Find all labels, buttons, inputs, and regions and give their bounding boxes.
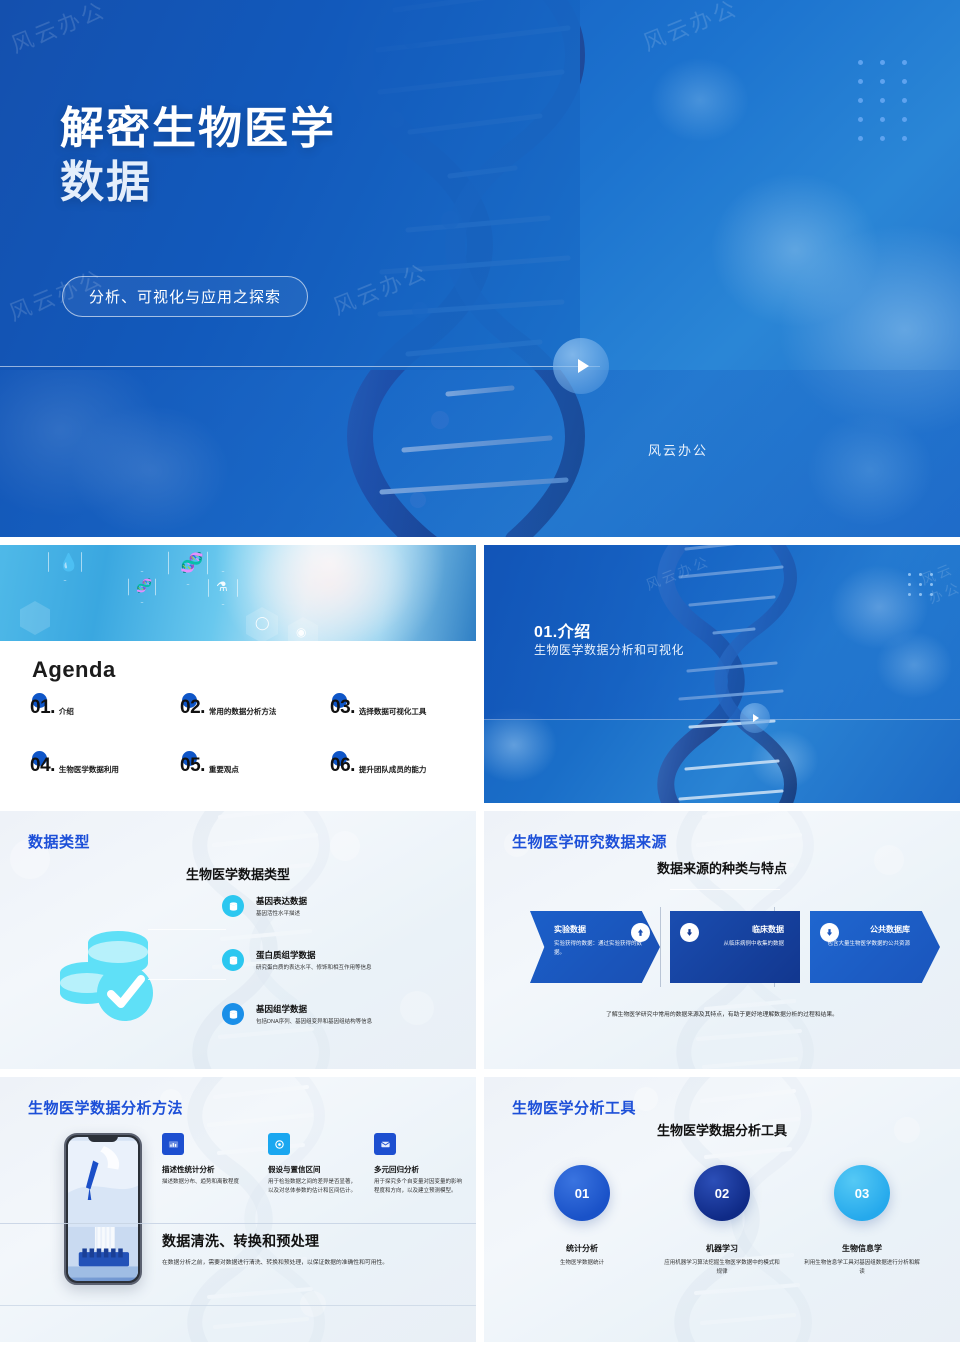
agenda-item-01[interactable]: 01. 介绍 <box>30 697 180 719</box>
data-source-card-public[interactable]: 公共数据库 包含大量生物医学数据的公共资源 <box>810 911 940 983</box>
mail-icon <box>374 1133 396 1155</box>
dot-grid-decoration <box>908 573 941 603</box>
agenda-item-05[interactable]: 05. 重要观点 <box>180 755 330 777</box>
tool-card-bioinformatics[interactable]: 03 生物信息学 利用生物信息学工具对基因组数据进行分析和解读 <box>792 1165 932 1277</box>
tool-desc: 生物医学数据统计 <box>512 1259 652 1268</box>
method-card-regression[interactable]: 多元回归分析 用于探究多个自变量对因变量的影响程度和方向，以及建立预测模型。 <box>374 1133 462 1196</box>
card-desc: 包含大量生物医学数据的公共资源 <box>824 940 910 949</box>
agenda-label: 重要观点 <box>209 764 239 777</box>
play-button[interactable] <box>740 703 770 733</box>
method-desc: 描述数据分布、趋势和离散程度 <box>162 1178 250 1187</box>
title-line-2: 数据 <box>60 156 490 210</box>
method-title: 多元回归分析 <box>374 1164 462 1175</box>
slide-footnote: 了解生物医学研究中常用的数据来源及其特点，有助于更好地理解数据分析的过程和结果。 <box>484 1009 960 1018</box>
agenda-item-04[interactable]: 04. 生物医学数据利用 <box>30 755 180 777</box>
chart-icon <box>162 1133 184 1155</box>
agenda-item-06[interactable]: 06. 提升团队成员的能力 <box>330 755 476 777</box>
agenda-item-03[interactable]: 03. 选择数据可视化工具 <box>330 697 476 719</box>
method-desc: 用于检验数据之间的差异是否显著，以及对总体参数的估计和区间估计。 <box>268 1178 356 1196</box>
data-source-cards: 实验数据 实验获得的数据：通过实验获得的数据。 临床数据 从临床病例中收集的数据… <box>530 911 940 983</box>
tool-number-badge: 01 <box>554 1165 610 1221</box>
agenda-number: 03. <box>330 697 355 719</box>
agenda-number: 01. <box>30 697 55 719</box>
agenda-hero-image: 💧 🧬 🧬 ⚗ ◯ ◉ <box>0 545 476 641</box>
brand-label: 风云办公 <box>648 440 708 459</box>
tool-number-badge: 02 <box>694 1165 750 1221</box>
center-title: 生物医学数据类型 <box>0 864 476 883</box>
agenda-number: 05. <box>180 755 205 777</box>
database-icon <box>222 949 244 971</box>
presentation-deck: 风云办公 风云办公 风云办公 风云办公 解密生物医学 数据 分析、可视化与应用之… <box>0 0 960 1352</box>
play-triangle-icon <box>753 714 759 722</box>
slide-data-types: 数据类型 生物医学数据类型 <box>0 811 476 1069</box>
agenda-number: 04. <box>30 755 55 777</box>
play-button[interactable] <box>553 338 609 394</box>
title-divider <box>0 366 600 367</box>
data-type-title: 蛋白质组学数据 <box>256 949 452 961</box>
tool-desc: 应用机器学习算法挖掘生物医学数据中的模式和规律 <box>652 1259 792 1277</box>
database-icon <box>222 895 244 917</box>
section-divider <box>0 1305 476 1306</box>
agenda-number: 02. <box>180 697 205 719</box>
tools-list: 01 统计分析 生物医学数据统计 02 机器学习 应用机器学习算法挖掘生物医学数… <box>512 1165 932 1277</box>
title-bottom-panel <box>0 370 960 537</box>
data-type-desc: 基因活性水平描述 <box>256 910 452 919</box>
agenda-title: Agenda <box>32 657 116 683</box>
page-title: 解密生物医学 数据 <box>60 102 490 209</box>
slide-header: 数据类型 <box>28 831 90 852</box>
methods-list: 描述性统计分析 描述数据分布、趋势和离散程度 假设与置信区间 用于检验数据之间的… <box>162 1133 462 1196</box>
method-card-hypothesis[interactable]: 假设与置信区间 用于检验数据之间的差异是否显著，以及对总体参数的估计和区间估计。 <box>268 1133 356 1196</box>
agenda-label: 介绍 <box>59 706 74 719</box>
data-type-list: 基因表达数据 基因活性水平描述 蛋白质组学数据 研究蛋白质的表达水平、修饰和相互… <box>222 895 452 1057</box>
tool-card-machine-learning[interactable]: 02 机器学习 应用机器学习算法挖掘生物医学数据中的模式和规律 <box>652 1165 792 1277</box>
tool-number-badge: 03 <box>834 1165 890 1221</box>
section-number-title: 01.介绍 <box>534 618 591 642</box>
data-type-item[interactable]: 基因表达数据 基因活性水平描述 <box>222 895 452 929</box>
dot-grid-decoration <box>858 60 924 155</box>
center-title: 数据来源的种类与特点 <box>484 858 960 877</box>
slide-data-sources: 生物医学研究数据来源 数据来源的种类与特点 实验数据 实验获得的数据：通过实验获… <box>484 811 960 1069</box>
target-icon <box>268 1133 290 1155</box>
data-source-card-experimental[interactable]: 实验数据 实验获得的数据：通过实验获得的数据。 <box>530 911 660 983</box>
slide-row-4: 生物医学数据分析方法 <box>0 1077 960 1342</box>
slide-analysis-methods: 生物医学数据分析方法 <box>0 1077 476 1342</box>
data-type-title: 基因组学数据 <box>256 1003 452 1015</box>
section-divider <box>484 719 960 720</box>
agenda-label: 常用的数据分析方法 <box>209 706 277 719</box>
slide-header: 生物医学分析工具 <box>512 1097 636 1118</box>
data-type-desc: 包括DNA序列、基因组变异和基因组结构等信息 <box>256 1018 452 1027</box>
methods-bottom-title: 数据清洗、转换和预处理 <box>162 1231 319 1251</box>
method-title: 描述性统计分析 <box>162 1164 250 1175</box>
slide-agenda: 💧 🧬 🧬 ⚗ ◯ ◉ Agenda 01. 介绍 <box>0 545 476 803</box>
subtitle-pill: 分析、可视化与应用之探索 <box>62 276 308 317</box>
agenda-label: 提升团队成员的能力 <box>359 764 427 777</box>
tool-title: 机器学习 <box>652 1243 792 1254</box>
database-icon <box>222 1003 244 1025</box>
section-subtitle: 生物医学数据分析和可视化 <box>534 641 684 658</box>
data-type-item[interactable]: 基因组学数据 包括DNA序列、基因组变异和基因组结构等信息 <box>222 1003 452 1037</box>
tool-title: 统计分析 <box>512 1243 652 1254</box>
tool-card-statistics[interactable]: 01 统计分析 生物医学数据统计 <box>512 1165 652 1277</box>
agenda-list: 01. 介绍 02. 常用的数据分析方法 03. 选择数据可视化工具 04. 生… <box>30 697 450 777</box>
method-title: 假设与置信区间 <box>268 1164 356 1175</box>
slide-header: 生物医学研究数据来源 <box>512 831 667 852</box>
phone-notch <box>88 1135 118 1142</box>
title-line-1: 解密生物医学 <box>60 102 490 156</box>
section-divider <box>0 1223 476 1224</box>
agenda-number: 06. <box>330 755 355 777</box>
slide-section-intro: 风云办公 风云办公 01.介绍 生物医学数据分析和可视化 <box>484 545 960 803</box>
phone-mockup <box>64 1133 142 1285</box>
data-source-card-clinical[interactable]: 临床数据 从临床病例中收集的数据 <box>670 911 800 983</box>
slide-row-3: 数据类型 生物医学数据类型 <box>0 811 960 1069</box>
tool-desc: 利用生物信息学工具对基因组数据进行分析和解读 <box>792 1259 932 1277</box>
center-title: 生物医学数据分析工具 <box>484 1120 960 1139</box>
agenda-label: 选择数据可视化工具 <box>359 706 427 719</box>
card-title: 临床数据 <box>684 924 784 935</box>
card-desc: 实验获得的数据：通过实验获得的数据。 <box>554 940 646 958</box>
method-card-descriptive[interactable]: 描述性统计分析 描述数据分布、趋势和离散程度 <box>162 1133 250 1196</box>
data-type-desc: 研究蛋白质的表达水平、修饰和相互作用等信息 <box>256 964 452 973</box>
data-type-item[interactable]: 蛋白质组学数据 研究蛋白质的表达水平、修饰和相互作用等信息 <box>222 949 452 983</box>
slide-row-2: 💧 🧬 🧬 ⚗ ◯ ◉ Agenda 01. 介绍 <box>0 545 960 803</box>
connector-line <box>670 889 780 890</box>
slide-header: 生物医学数据分析方法 <box>28 1097 183 1118</box>
agenda-label: 生物医学数据利用 <box>59 764 119 777</box>
data-type-title: 基因表达数据 <box>256 895 452 907</box>
tool-title: 生物信息学 <box>792 1243 932 1254</box>
methods-bottom-desc: 在数据分析之前，需要对数据进行清洗、转换和预处理，以保证数据的准确性和可用性。 <box>162 1257 388 1266</box>
slide-title: 风云办公 风云办公 风云办公 风云办公 解密生物医学 数据 分析、可视化与应用之… <box>0 0 960 537</box>
slide-analysis-tools: 生物医学分析工具 生物医学数据分析工具 01 统计分析 生物医学数据统计 02 … <box>484 1077 960 1342</box>
phone-screen-image <box>68 1137 138 1281</box>
agenda-item-02[interactable]: 02. 常用的数据分析方法 <box>180 697 330 719</box>
play-triangle-icon <box>578 359 589 373</box>
card-desc: 从临床病例中收集的数据 <box>684 940 784 949</box>
method-desc: 用于探究多个自变量对因变量的影响程度和方向，以及建立预测模型。 <box>374 1178 462 1196</box>
database-check-illustration <box>55 921 165 1031</box>
